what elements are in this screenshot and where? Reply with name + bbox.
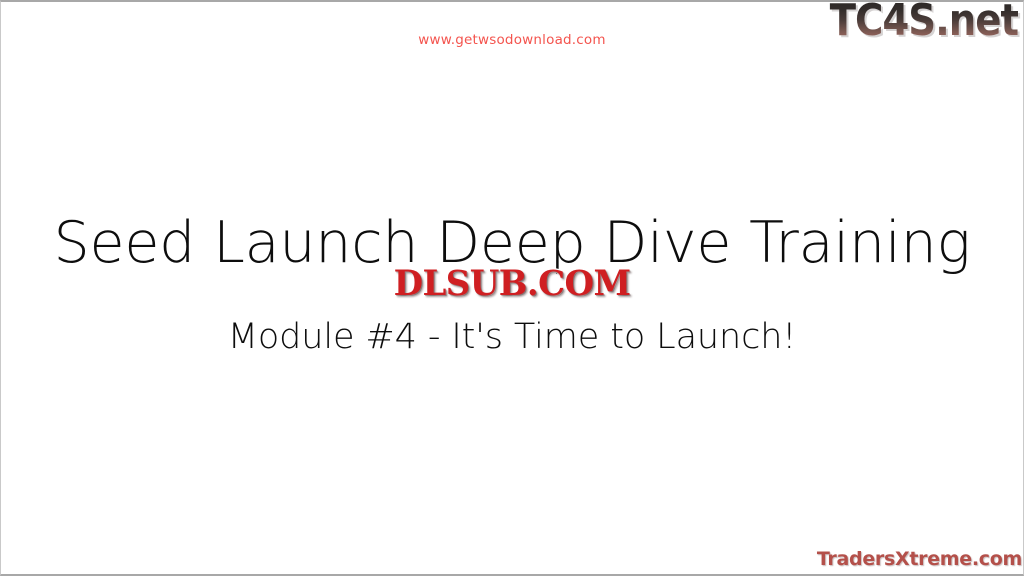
slide-canvas <box>1 2 1023 574</box>
watermark-tc4s-logo: TC4S.net <box>830 0 1018 44</box>
watermark-tradersxtreme: TradersXtreme.com <box>817 548 1022 570</box>
slide-title: Seed Launch Deep Dive Training <box>0 210 1024 276</box>
slide-subtitle: Module #4 - It's Time to Launch! <box>0 317 1024 357</box>
presentation-slide: www.getwsodownload.com TC4S.net TC4S.net… <box>0 0 1024 576</box>
